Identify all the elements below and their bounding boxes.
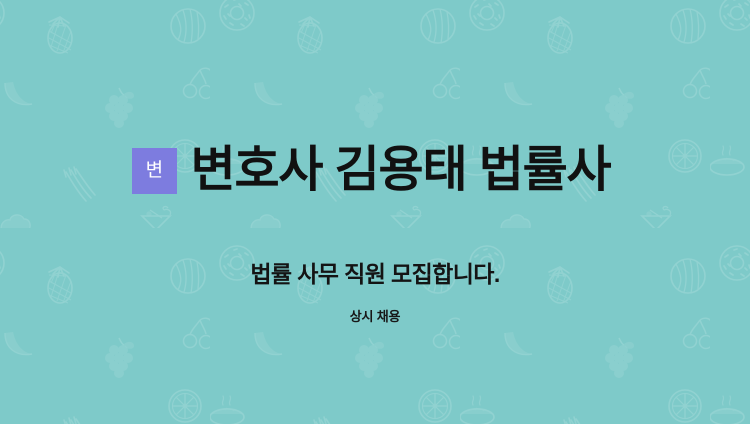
job-posting-subtitle: 법률 사무 직원 모집합니다. xyxy=(250,261,499,289)
title-row: 변 변호사 김용태 법률사 xyxy=(132,113,611,229)
logo-badge-label: 변 xyxy=(146,161,163,180)
job-posting-banner: 변 변호사 김용태 법률사 법률 사무 직원 모집합니다. 상시 채용 xyxy=(0,0,750,424)
hiring-status-tagline: 상시 채용 xyxy=(350,309,400,325)
law-firm-badge-icon: 변 xyxy=(132,148,177,194)
banner-content: 변 변호사 김용태 법률사 법률 사무 직원 모집합니다. 상시 채용 xyxy=(0,0,750,424)
page-title: 변호사 김용태 법률사 xyxy=(191,146,611,196)
